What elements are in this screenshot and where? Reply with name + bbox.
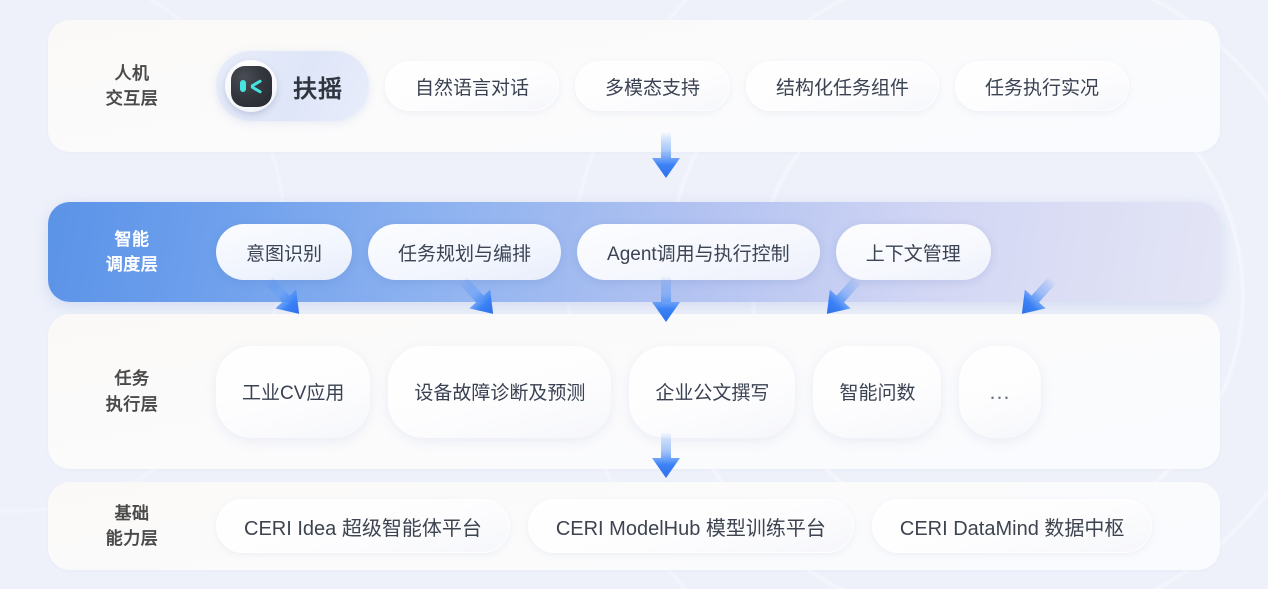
capability-pill[interactable]: 任务执行实况 <box>955 61 1129 111</box>
layer-items-intelligent-scheduling: 意图识别 任务规划与编排 Agent调用与执行控制 上下文管理 <box>216 224 1220 280</box>
layer-items-foundation-capability: CERI Idea 超级智能体平台 CERI ModelHub 模型训练平台 C… <box>216 499 1220 553</box>
brand-fuyao[interactable]: 扶摇 <box>216 51 369 121</box>
brand-name-label: 扶摇 <box>293 69 343 104</box>
layer-label-task-execution: 任务 执行层 <box>48 366 216 417</box>
platform-pill[interactable]: CERI DataMind 数据中枢 <box>872 499 1153 553</box>
layer-human-interaction: 人机 交互层 扶摇 自然语言对话 多模态支持 结构化任务组件 任务执行实况 <box>48 20 1220 152</box>
architecture-diagram: 人机 交互层 扶摇 自然语言对话 多模态支持 结构化任务组件 任务执行实况 智能 <box>48 20 1220 570</box>
layer-label-human-interaction: 人机 交互层 <box>48 61 216 112</box>
task-pill[interactable]: 设备故障诊断及预测 <box>388 346 611 438</box>
layer-label-foundation-capability: 基础 能力层 <box>48 501 216 552</box>
layer-label-line2: 交互层 <box>48 86 216 112</box>
layer-task-execution: 任务 执行层 工业CV应用 设备故障诊断及预测 企业公文撰写 智能问数 … <box>48 314 1220 469</box>
task-pill[interactable]: 智能问数 <box>813 346 941 438</box>
capability-pill[interactable]: 多模态支持 <box>575 61 730 111</box>
platform-pill[interactable]: CERI Idea 超级智能体平台 <box>216 499 510 553</box>
layer-label-line1: 基础 <box>115 504 150 523</box>
capability-pill[interactable]: 意图识别 <box>216 224 352 280</box>
layer-foundation-capability: 基础 能力层 CERI Idea 超级智能体平台 CERI ModelHub 模… <box>48 482 1220 570</box>
layer-label-line2: 能力层 <box>48 526 216 552</box>
task-pill[interactable]: 工业CV应用 <box>216 346 370 438</box>
robot-face-icon <box>225 60 277 112</box>
capability-pill[interactable]: 上下文管理 <box>836 224 991 280</box>
task-pill[interactable]: 企业公文撰写 <box>629 346 795 438</box>
layer-label-line2: 调度层 <box>48 252 216 278</box>
task-pill-more[interactable]: … <box>959 346 1041 438</box>
layer-label-line1: 任务 <box>115 369 150 388</box>
layer-label-intelligent-scheduling: 智能 调度层 <box>48 227 216 278</box>
layer-items-human-interaction: 扶摇 自然语言对话 多模态支持 结构化任务组件 任务执行实况 <box>216 51 1220 121</box>
capability-pill[interactable]: 自然语言对话 <box>385 61 559 111</box>
layer-label-line2: 执行层 <box>48 392 216 418</box>
capability-pill[interactable]: 任务规划与编排 <box>368 224 561 280</box>
capability-pill[interactable]: 结构化任务组件 <box>746 61 939 111</box>
capability-pill[interactable]: Agent调用与执行控制 <box>577 224 820 280</box>
layer-label-line1: 人机 <box>115 64 150 83</box>
layer-items-task-execution: 工业CV应用 设备故障诊断及预测 企业公文撰写 智能问数 … <box>216 346 1220 438</box>
platform-pill[interactable]: CERI ModelHub 模型训练平台 <box>528 499 854 553</box>
layer-label-line1: 智能 <box>115 230 150 249</box>
layer-intelligent-scheduling: 智能 调度层 意图识别 任务规划与编排 Agent调用与执行控制 上下文管理 <box>48 202 1220 302</box>
